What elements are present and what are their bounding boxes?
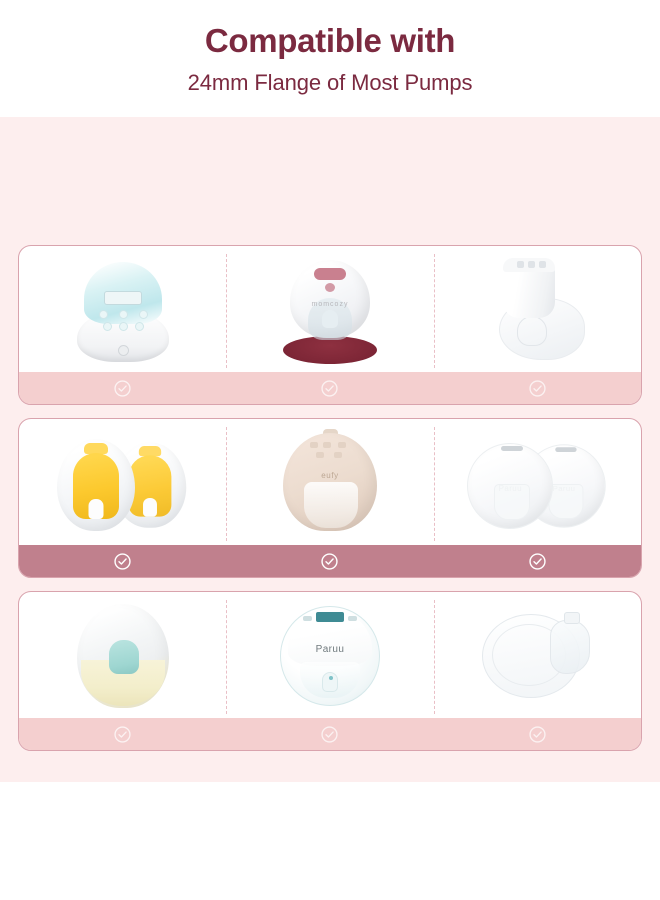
product-cell-clear-flange-cup-side-view[interactable] — [434, 592, 641, 720]
dome-pump-mint-panel-image — [71, 258, 175, 362]
compatibility-row-1: momcozy — [18, 245, 642, 405]
check-circle-icon — [320, 552, 339, 571]
pump-control-keys — [517, 261, 547, 269]
heading-block: Compatible with 24mm Flange of Most Pump… — [0, 22, 660, 96]
pump-milk-tank — [549, 484, 584, 519]
pump-side-button-left — [303, 616, 312, 621]
paruu-wearable-pump-teal-display-image: Paruu — [280, 606, 380, 706]
pump-cup-front: Paruu — [467, 443, 553, 529]
pump-nozzle — [322, 310, 338, 328]
pump-latch — [118, 345, 129, 356]
check-circle-icon — [320, 725, 339, 744]
clear-flange-cup-side-view-image — [482, 610, 592, 702]
compatibility-infographic: Compatible with 24mm Flange of Most Pump… — [0, 0, 660, 900]
product-cell-dual-yellow-wearable-cups[interactable] — [19, 419, 226, 547]
row-1-cells: momcozy — [19, 246, 641, 374]
product-cell-dome-pump-mint-panel[interactable] — [19, 246, 226, 374]
row-2-compatibility-footer — [19, 545, 641, 577]
compatibility-check-slot — [19, 718, 226, 750]
check-circle-icon — [113, 552, 132, 571]
row-3-compatibility-footer — [19, 718, 641, 750]
compatibility-row-3: Paruu — [18, 591, 642, 751]
row-1-compatibility-footer — [19, 372, 641, 404]
check-circle-icon — [320, 379, 339, 398]
row-2-cells: eufy Paruu Paruu — [19, 419, 641, 547]
beige-egg-wearable-pump-image: eufy — [283, 431, 377, 535]
collector-mint-badge — [109, 640, 139, 674]
product-cell-milk-collector-mint-badge[interactable] — [19, 592, 226, 720]
pump-outlet — [143, 498, 157, 517]
dual-white-wearable-cups-image: Paruu Paruu — [467, 435, 607, 531]
pump-vent — [556, 447, 577, 452]
maroon-display-stand — [283, 336, 377, 364]
compatibility-check-slot — [434, 372, 641, 404]
flange-clip — [564, 612, 580, 624]
compatibility-check-slot — [434, 718, 641, 750]
product-brand-label: Paruu — [280, 644, 380, 655]
compatibility-check-slot — [19, 545, 226, 577]
pump-milk-tank — [494, 484, 530, 520]
pump-control-keys — [310, 442, 352, 458]
milk-collector-mint-badge-image — [77, 604, 169, 708]
product-cell-beige-egg-wearable-pump[interactable]: eufy — [226, 419, 433, 547]
compatibility-check-slot — [226, 545, 433, 577]
pump-power-button — [325, 283, 335, 292]
pump-milk-tank — [304, 482, 358, 528]
pump-side-button-right — [348, 616, 357, 621]
pump-nozzle — [322, 672, 338, 692]
compatibility-check-slot — [226, 372, 433, 404]
product-cell-wearable-pump-on-maroon-stand[interactable]: momcozy — [226, 246, 433, 374]
pump-button-pad — [99, 310, 149, 330]
pump-cup-front — [57, 439, 135, 531]
page-title: Compatible with — [0, 22, 660, 61]
wearable-pump-on-maroon-stand-image: momcozy — [274, 254, 386, 366]
product-cell-dual-white-wearable-cups[interactable]: Paruu Paruu — [434, 419, 641, 547]
pump-display — [314, 268, 346, 280]
compatibility-check-slot — [19, 372, 226, 404]
dual-yellow-wearable-cups-image — [57, 431, 189, 535]
pump-inner-flange — [517, 316, 547, 346]
pump-display — [316, 612, 344, 622]
row-3-cells: Paruu — [19, 592, 641, 720]
flange-neck — [550, 620, 590, 674]
product-cell-cylinder-motor-wearable-pump[interactable] — [434, 246, 641, 374]
compatibility-check-slot — [226, 718, 433, 750]
compatibility-check-slot — [434, 545, 641, 577]
product-brand-label: momcozy — [274, 301, 386, 308]
product-brand-label: eufy — [283, 471, 377, 480]
product-cell-paruu-wearable-pump-teal-display[interactable]: Paruu — [226, 592, 433, 720]
check-circle-icon — [528, 552, 547, 571]
pump-outlet — [88, 499, 103, 519]
check-circle-icon — [113, 725, 132, 744]
page-subtitle: 24mm Flange of Most Pumps — [0, 70, 660, 96]
check-circle-icon — [528, 379, 547, 398]
pump-vent — [501, 446, 523, 451]
cylinder-motor-wearable-pump-image — [483, 258, 591, 362]
pump-lcd-screen — [104, 291, 142, 305]
compatibility-row-2: eufy Paruu Paruu — [18, 418, 642, 578]
check-circle-icon — [528, 725, 547, 744]
check-circle-icon — [113, 379, 132, 398]
